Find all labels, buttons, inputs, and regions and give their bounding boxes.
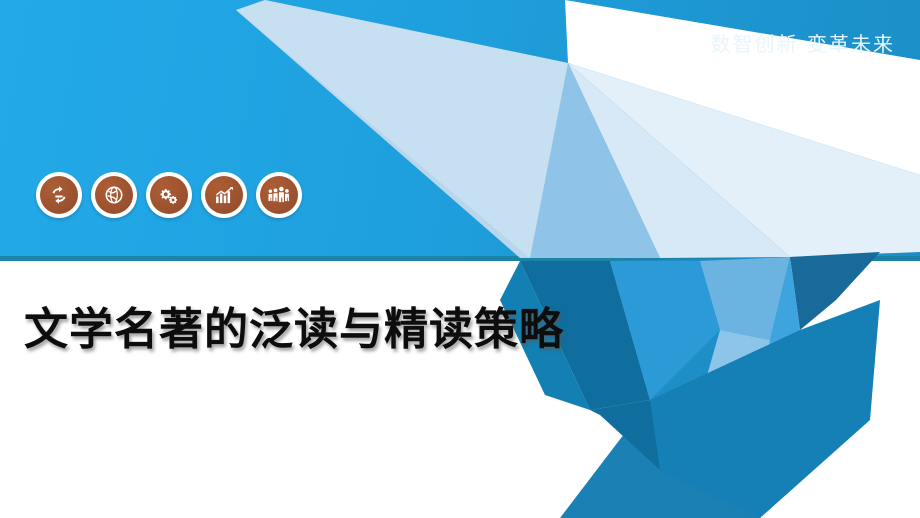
bar-chart-icon: [205, 176, 243, 214]
presentation-slide: 数智创新 变革未来: [0, 0, 920, 518]
page-title: 文学名著的泛读与精读策略: [24, 293, 564, 357]
icon-badge-recycle[interactable]: [36, 172, 82, 218]
gears-icon: [150, 176, 188, 214]
poly-pale-sheet-left-top: [236, 0, 568, 258]
people-group-icon: [260, 176, 298, 214]
globe-icon: [95, 176, 133, 214]
low-poly-decoration: [0, 0, 920, 518]
icon-row: [36, 172, 302, 218]
tagline: 数智创新 变革未来: [711, 28, 895, 57]
icon-badge-people-group[interactable]: [256, 172, 302, 218]
icon-badge-bar-chart[interactable]: [201, 172, 247, 218]
icon-badge-gears[interactable]: [146, 172, 192, 218]
recycle-arrow-icon: [40, 176, 78, 214]
icon-badge-globe[interactable]: [91, 172, 137, 218]
